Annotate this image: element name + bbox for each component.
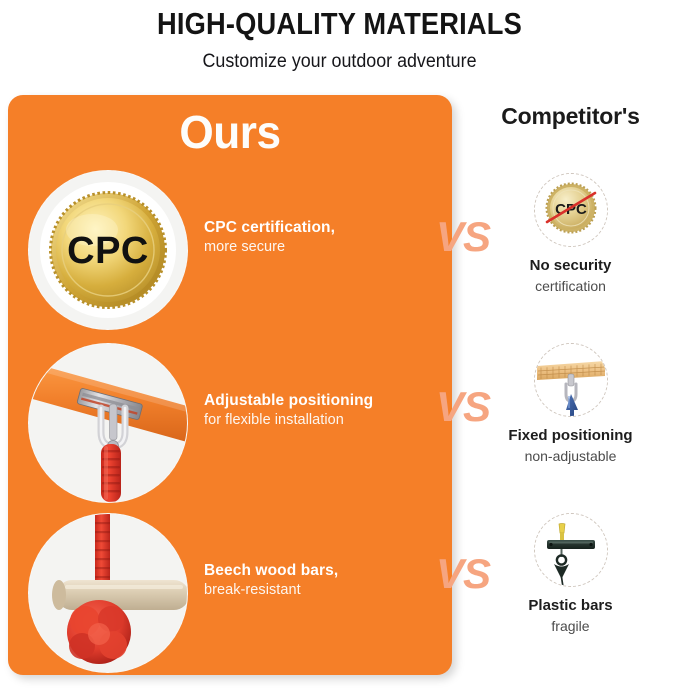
competitor-feature-row: Fixed positioning non-adjustable (462, 343, 679, 465)
vs-divider-badge: VS (436, 216, 490, 258)
competitor-feature-text: No security certification (462, 256, 679, 295)
ours-column-title: Ours (17, 105, 443, 159)
ours-feature-text: CPC certification, more secure (204, 218, 444, 257)
competitor-feature-row: Plastic bars fragile (462, 513, 679, 635)
page-title: HIGH-QUALITY MATERIALS (41, 0, 639, 42)
ours-feature-line2: more secure (204, 238, 444, 257)
vs-divider-badge: VS (436, 386, 490, 428)
competitor-feature-line2: non-adjustable (462, 447, 679, 466)
competitor-feature-line1: Plastic bars (462, 596, 679, 616)
competitor-feature-text: Fixed positioning non-adjustable (462, 426, 679, 465)
plastic-bar-hook-icon (534, 513, 608, 587)
ours-comparison-panel: Ours (8, 95, 452, 675)
orange-strap-carabiner-icon (28, 343, 188, 503)
competitor-column-title: Competitor's (462, 103, 679, 130)
competitor-comparison-column: Competitor's CPC (462, 95, 679, 675)
ours-feature-line2: break-resistant (204, 581, 444, 600)
ours-feature-text: Adjustable positioning for flexible inst… (204, 391, 444, 430)
cpc-gold-badge-icon: CPC (28, 170, 188, 330)
page-subtitle: Customize your outdoor adventure (20, 42, 658, 73)
competitor-feature-row: CPC No security certification (462, 173, 679, 295)
ours-feature-line2: for flexible installation (204, 411, 444, 430)
ours-feature-line1: Adjustable positioning (204, 391, 444, 411)
competitor-feature-text: Plastic bars fragile (462, 596, 679, 635)
ours-feature-text: Beech wood bars, break-resistant (204, 561, 444, 600)
tan-strap-fixed-hook-icon (534, 343, 608, 417)
page-header: HIGH-QUALITY MATERIALS Customize your ou… (0, 0, 679, 73)
ours-feature-line1: CPC certification, (204, 218, 444, 238)
competitor-feature-line2: certification (462, 277, 679, 296)
svg-text:CPC: CPC (67, 230, 149, 272)
beech-wood-bar-rope-icon (28, 513, 188, 673)
competitor-feature-line2: fragile (462, 617, 679, 636)
vs-divider-badge: VS (436, 553, 490, 595)
ours-feature-row: Adjustable positioning for flexible inst… (8, 343, 452, 503)
ours-feature-line1: Beech wood bars, (204, 561, 444, 581)
cpc-badge-crossed-out-icon: CPC (534, 173, 608, 247)
ours-feature-row: CPC CPC certification, more secure (8, 170, 452, 330)
competitor-feature-line1: Fixed positioning (462, 426, 679, 446)
competitor-feature-line1: No security (462, 256, 679, 276)
ours-feature-row: Beech wood bars, break-resistant (8, 513, 452, 673)
